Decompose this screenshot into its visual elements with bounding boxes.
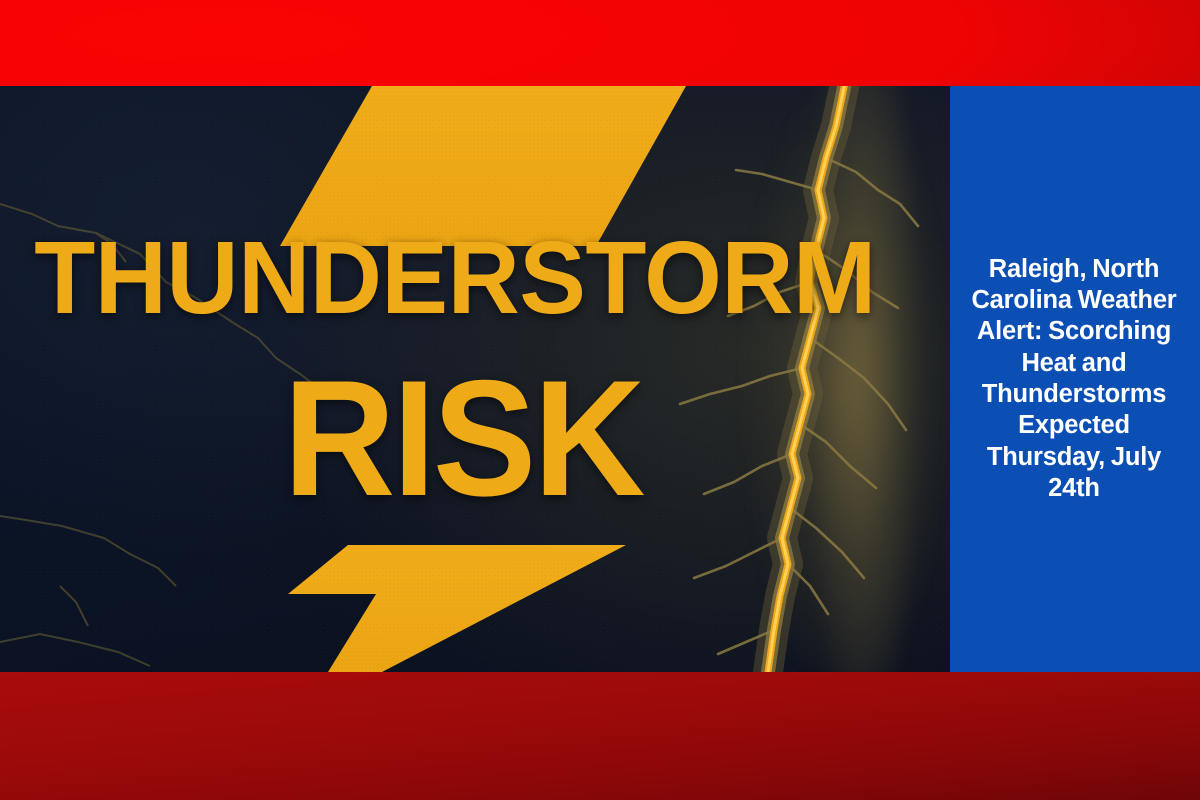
- frame-bottom-band: [0, 672, 1200, 800]
- bolt-bottom-segment: [288, 545, 626, 672]
- caption-text: Raleigh, North Carolina Weather Alert: S…: [964, 254, 1184, 505]
- artwork-panel: THUNDERSTORM RISK: [0, 86, 950, 672]
- weather-alert-poster: THUNDERSTORM RISK Raleigh, North Carolin…: [0, 0, 1200, 800]
- bolt-top-segment: [280, 86, 686, 246]
- lightning-strike-vector: [650, 86, 950, 672]
- frame-top-band: [0, 0, 1200, 86]
- lightning-strike-photo: [650, 86, 950, 672]
- caption-panel: Raleigh, North Carolina Weather Alert: S…: [950, 86, 1200, 672]
- ambient-branch-filaments: [0, 204, 316, 666]
